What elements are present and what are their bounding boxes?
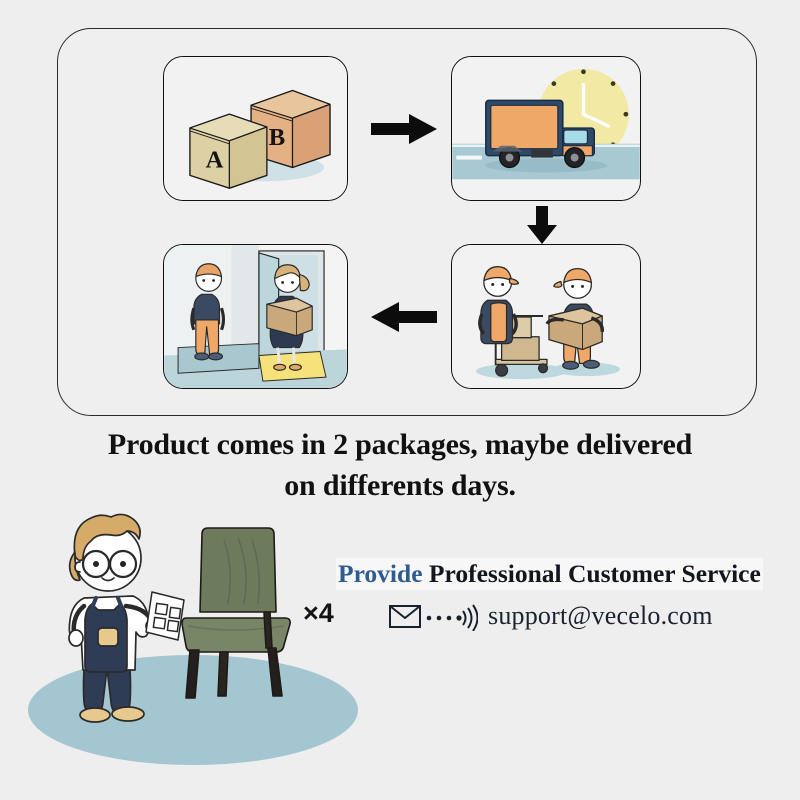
support-email: support@vecelo.com xyxy=(488,601,713,631)
page-root: B A xyxy=(0,0,800,800)
arrow-left-icon xyxy=(369,299,439,335)
doorstep-delivery-panel xyxy=(163,244,348,389)
svg-text:B: B xyxy=(269,124,285,151)
product-chair xyxy=(172,522,307,702)
two-packages-panel: B A xyxy=(163,56,348,201)
headline: Product comes in 2 packages, maybe deliv… xyxy=(0,424,800,507)
arrow-right-icon xyxy=(369,111,439,147)
svg-text:A: A xyxy=(206,146,224,173)
box-a: A xyxy=(190,114,267,188)
service-title-highlight: Provide xyxy=(338,559,423,588)
arrow-down-icon xyxy=(524,205,560,245)
email-row: support@vecelo.com xyxy=(388,601,713,631)
service-title-rest: Professional Customer Service xyxy=(423,559,761,588)
service-title: Provide Professional Customer Service xyxy=(336,558,763,590)
delivery-flow-container: B A xyxy=(57,28,757,416)
envelope-signal-icon xyxy=(388,601,478,631)
quantity-label: ×4 xyxy=(303,598,334,629)
headline-line-1: Product comes in 2 packages, maybe deliv… xyxy=(108,428,692,461)
truck-in-transit-panel xyxy=(451,56,641,201)
couriers-unloading-panel xyxy=(451,244,641,389)
